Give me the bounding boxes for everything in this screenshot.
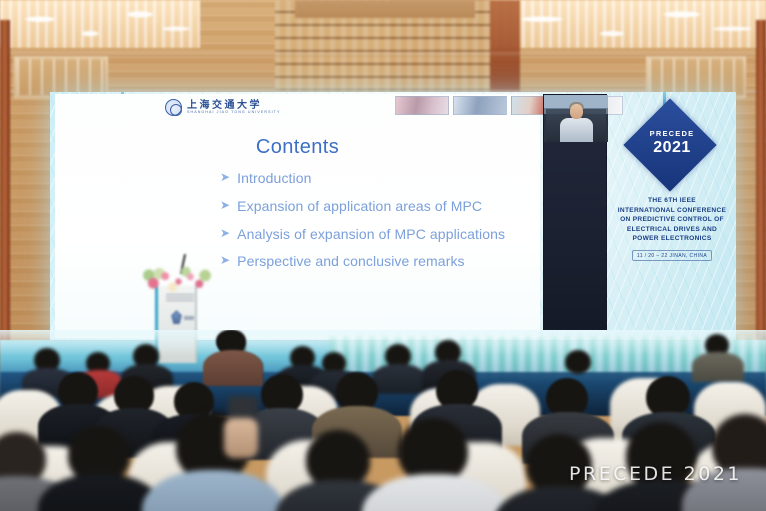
title-line-1-right: THE 6TH IEEE [612, 196, 732, 206]
title-line-2-right: INTERNATIONAL CONFERENCE [612, 206, 732, 216]
strip-photo-2 [453, 96, 507, 115]
conference-title-right: THE 6TH IEEE INTERNATIONAL CONFERENCE ON… [612, 196, 732, 244]
ceiling-light-left [0, 0, 200, 48]
speaker-head [570, 104, 583, 119]
list-item: ➤ Analysis of expansion of MPC applicati… [220, 226, 540, 243]
strip-photo-1 [395, 96, 449, 115]
university-name: 上海交通大学 SHANGHAI JIAO TONG UNIVERSITY [187, 100, 280, 115]
bullet-arrow-icon: ➤ [220, 253, 230, 269]
title-line-4-right: ELECTRICAL DRIVES AND [612, 225, 732, 235]
conference-hall-photo: PRECEDE 2021 THE 6TH IEEE INTERNATIONAL … [0, 0, 766, 511]
audience-light-haze [0, 330, 766, 356]
slide-title: Contents [55, 136, 540, 159]
conference-date-location-right: 11 / 20 – 22 JINAN, CHINA [632, 250, 712, 261]
conference-logo-right: PRECEDE 2021 THE 6TH IEEE INTERNATIONAL … [612, 104, 732, 262]
photo-watermark: PRECEDE 2021 [569, 463, 742, 485]
sjtu-university-logo: 上海交通大学 SHANGHAI JIAO TONG UNIVERSITY [165, 99, 280, 116]
wall-chevron-top-band [295, 0, 475, 18]
university-name-en: SHANGHAI JIAO TONG UNIVERSITY [187, 111, 280, 115]
podium-emblem-icon [171, 310, 182, 324]
bullet-arrow-icon: ➤ [220, 198, 230, 214]
bullet-arrow-icon: ➤ [220, 170, 230, 186]
precede-diamond-badge-right: PRECEDE 2021 [629, 104, 715, 190]
bullet-text-1: Introduction [237, 170, 311, 187]
remote-speaker-video-panel [543, 94, 607, 330]
badge-precede-text-right: PRECEDE [629, 130, 715, 138]
presentation-slide: 上海交通大学 SHANGHAI JIAO TONG UNIVERSITY Con… [55, 94, 540, 338]
diamond-label-right: PRECEDE 2021 [629, 130, 715, 156]
slide-bullet-list: ➤ Introduction ➤ Expansion of applicatio… [220, 170, 540, 281]
podium-flower-arrangement [140, 264, 214, 296]
bullet-text-2: Expansion of application areas of MPC [237, 198, 482, 215]
bullet-text-4: Perspective and conclusive remarks [237, 253, 465, 270]
speaker-torso [560, 118, 593, 142]
badge-year-text-right: 2021 [629, 140, 715, 156]
title-line-5-right: POWER ELECTRONICS [612, 234, 732, 244]
ceiling-light-right [486, 0, 766, 48]
list-item: ➤ Perspective and conclusive remarks [220, 253, 540, 270]
list-item: ➤ Introduction [220, 170, 540, 187]
list-item: ➤ Expansion of application areas of MPC [220, 198, 540, 215]
speaker-video-thumbnail [544, 95, 608, 142]
bullet-text-3: Analysis of expansion of MPC application… [237, 226, 505, 243]
podium-emblem-label [184, 316, 194, 320]
title-line-3-right: ON PREDICTIVE CONTROL OF [612, 215, 732, 225]
university-seal-icon [165, 99, 182, 116]
bullet-arrow-icon: ➤ [220, 226, 230, 242]
